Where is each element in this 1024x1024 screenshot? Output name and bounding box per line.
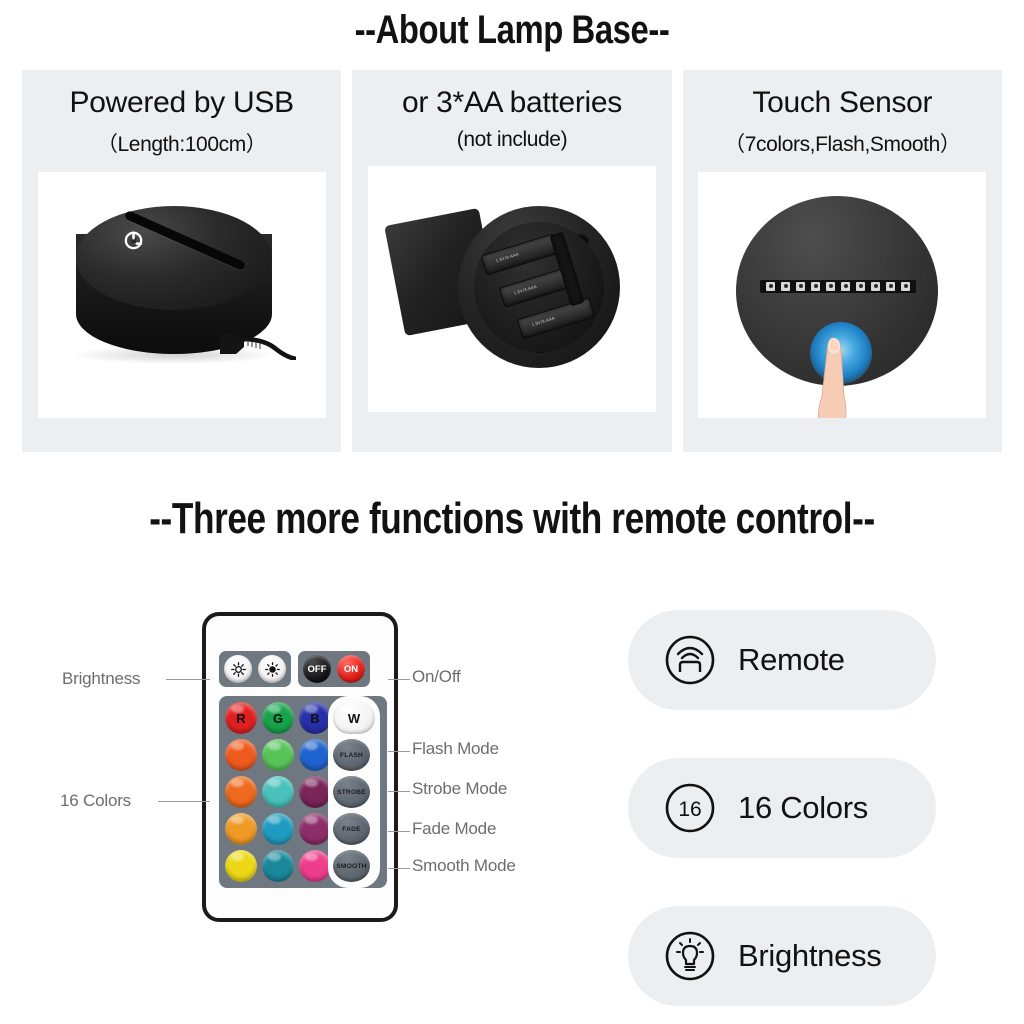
callout-strobe-mode: Strobe Mode	[412, 779, 507, 799]
lamp-base-panels: Powered by USB （Length:100cm）	[22, 70, 1002, 452]
led	[811, 282, 820, 291]
smooth-button[interactable]: SMOOTH	[333, 850, 370, 882]
brightness-up-button[interactable]	[224, 655, 252, 683]
color-button[interactable]	[225, 739, 257, 771]
battery-contact-rail	[549, 231, 584, 306]
leader-line-brightness	[166, 679, 210, 680]
base-underside: 1.5V/3-AAA 1.5V/3-AAA 1.5V/3-AAA	[458, 206, 620, 368]
remote-signal-icon	[664, 634, 716, 686]
flash-button[interactable]: FLASH	[333, 739, 370, 771]
page-title-three-more-functions: --Three more functions with remote contr…	[102, 494, 921, 544]
callout-flash-mode: Flash Mode	[412, 739, 499, 759]
feature-pill-remote: Remote	[628, 610, 936, 710]
color-button[interactable]	[299, 813, 331, 845]
panel-title: Touch Sensor	[752, 86, 932, 121]
feature-label: Brightness	[738, 938, 881, 974]
led	[886, 282, 895, 291]
color-button[interactable]	[299, 776, 331, 808]
color-button[interactable]	[262, 739, 294, 771]
color-button[interactable]	[299, 850, 331, 882]
callout-on-off: On/Off	[412, 667, 461, 687]
touch-base-illustration	[728, 192, 958, 418]
color-button-green[interactable]: G	[262, 702, 294, 734]
svg-text:16: 16	[678, 798, 701, 821]
leader-line-on-off	[388, 679, 410, 680]
leader-line-16-colors	[158, 801, 210, 802]
color-button[interactable]	[262, 813, 294, 845]
lamp-base-illustration	[70, 204, 300, 389]
strobe-button[interactable]: STROBE	[333, 776, 370, 808]
brightness-down-button[interactable]	[258, 655, 286, 683]
light-bulb-icon	[664, 930, 716, 982]
battery-slot: 1.5V/3-AAA	[517, 297, 596, 339]
color-button-grid: R G B	[225, 702, 331, 882]
led-strip	[760, 280, 916, 293]
led	[766, 282, 775, 291]
usb-lamp-base-photo	[38, 172, 326, 418]
led	[901, 282, 910, 291]
panel-aa-batteries: or 3*AA batteries (not include) 1.5V/3-A…	[352, 70, 671, 452]
remote-control[interactable]: OFF ON R G B W FLASH STROBE FADE SMOOTH	[202, 612, 398, 922]
battery-bay: 1.5V/3-AAA 1.5V/3-AAA 1.5V/3-AAA	[474, 222, 604, 352]
leader-line-smooth-mode	[388, 868, 410, 869]
finger-pointer	[814, 334, 860, 418]
led	[781, 282, 790, 291]
white-button[interactable]: W	[333, 702, 375, 734]
panel-title: or 3*AA batteries	[402, 86, 622, 121]
battery-compartment-photo: 1.5V/3-AAA 1.5V/3-AAA 1.5V/3-AAA	[368, 166, 656, 412]
led	[796, 282, 805, 291]
color-button[interactable]	[299, 739, 331, 771]
on-button[interactable]: ON	[337, 655, 365, 683]
brightness-up-icon	[230, 661, 247, 678]
color-button-red[interactable]: R	[225, 702, 257, 734]
callout-fade-mode: Fade Mode	[412, 819, 496, 839]
led	[856, 282, 865, 291]
panel-powered-by-usb: Powered by USB （Length:100cm）	[22, 70, 341, 452]
battery-base-illustration: 1.5V/3-AAA 1.5V/3-AAA 1.5V/3-AAA	[392, 188, 634, 392]
panel-title: Powered by USB	[70, 86, 294, 121]
callout-16-colors: 16 Colors	[60, 791, 131, 811]
leader-line-strobe-mode	[388, 791, 410, 792]
battery-slot-label: 1.5V/3-AAA	[513, 283, 537, 295]
power-icon	[122, 228, 145, 251]
leader-line-fade-mode	[388, 831, 410, 832]
remote-top-row: OFF ON	[219, 651, 370, 687]
feature-pill-brightness: Brightness	[628, 906, 936, 1006]
battery-slot: 1.5V/3-AAA	[481, 233, 560, 275]
feature-label: 16 Colors	[738, 790, 868, 826]
color-button[interactable]	[225, 850, 257, 882]
color-button-blue[interactable]: B	[299, 702, 331, 734]
led	[871, 282, 880, 291]
feature-pill-16-colors: 16 16 Colors	[628, 758, 936, 858]
feature-label: Remote	[738, 642, 845, 678]
panel-subtitle: （Length:100cm）	[97, 128, 267, 158]
led	[826, 282, 835, 291]
brightness-down-icon	[264, 661, 281, 678]
sixteen-circle-icon: 16	[664, 782, 716, 834]
power-button-group: OFF ON	[298, 651, 370, 687]
fade-button[interactable]: FADE	[333, 813, 370, 845]
color-button[interactable]	[262, 776, 294, 808]
panel-touch-sensor: Touch Sensor （7colors,Flash,Smooth）	[683, 70, 1002, 452]
usb-cable	[218, 330, 296, 360]
touch-sensor-photo	[698, 172, 986, 418]
battery-slot-label: 1.5V/3-AAA	[531, 315, 555, 327]
mode-button-column: W FLASH STROBE FADE SMOOTH	[328, 696, 380, 888]
battery-slot-label: 1.5V/3-AAA	[495, 251, 519, 263]
color-button[interactable]	[262, 850, 294, 882]
callout-brightness: Brightness	[62, 669, 140, 689]
led	[841, 282, 850, 291]
panel-subtitle: (not include)	[457, 128, 567, 152]
base-top-face	[76, 206, 272, 310]
off-button[interactable]: OFF	[303, 655, 331, 683]
color-button[interactable]	[225, 813, 257, 845]
callout-smooth-mode: Smooth Mode	[412, 856, 516, 876]
leader-line-flash-mode	[388, 751, 410, 752]
panel-subtitle: （7colors,Flash,Smooth）	[724, 128, 960, 158]
page-title-about-lamp-base: --About Lamp Base--	[92, 8, 932, 53]
color-button[interactable]	[225, 776, 257, 808]
brightness-button-group	[219, 651, 291, 687]
